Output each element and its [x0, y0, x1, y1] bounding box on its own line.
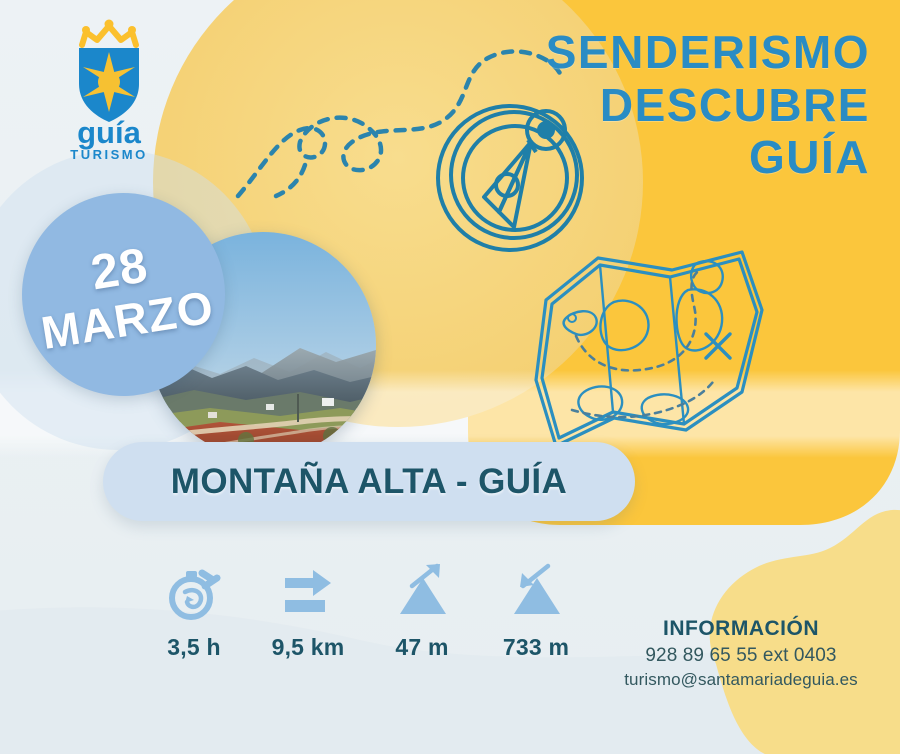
- folded-map-icon: [536, 252, 762, 446]
- info-email[interactable]: turismo@santamariadeguia.es: [596, 670, 886, 690]
- headline: SENDERISMO DESCUBRE GUÍA: [450, 30, 870, 188]
- route-title-text: MONTAÑA ALTA - GUÍA: [171, 462, 567, 502]
- stat-value: 733 m: [503, 634, 569, 661]
- stat-desnivel-negativo: 733 m: [482, 560, 590, 661]
- headline-line-3: GUÍA: [450, 135, 870, 180]
- logo-wordmark: guía: [77, 115, 141, 150]
- info-phone[interactable]: 928 89 65 55 ext 0403: [596, 645, 886, 667]
- stat-distancia: 9,5 km: [254, 560, 362, 661]
- guia-turismo-logo: guía TURISMO: [57, 12, 162, 162]
- crown-icon: [82, 26, 136, 45]
- date-badge: 28 MARZO: [22, 193, 225, 396]
- headline-line-2: DESCUBRE: [450, 83, 870, 128]
- info-block: INFORMACIÓN 928 89 65 55 ext 0403 turism…: [596, 617, 886, 690]
- headline-line-1: SENDERISMO: [450, 30, 870, 75]
- stats-row: 3,5 h 9,5 km 47 m: [140, 560, 590, 661]
- stat-desnivel-positivo: 47 m: [368, 560, 476, 661]
- stopwatch-icon: [165, 560, 223, 622]
- info-title: INFORMACIÓN: [596, 617, 886, 641]
- stat-duracion: 3,5 h: [140, 560, 248, 661]
- route-title-banner: MONTAÑA ALTA - GUÍA: [103, 442, 635, 521]
- poster-canvas: guía TURISMO SENDERISMO DESCUBRE GUÍA 28…: [0, 0, 900, 754]
- date-month: MARZO: [38, 282, 217, 357]
- descent-icon: [506, 560, 566, 622]
- stat-value: 47 m: [395, 634, 448, 661]
- stat-value: 9,5 km: [272, 634, 345, 661]
- ascent-icon: [392, 560, 452, 622]
- stat-value: 3,5 h: [167, 634, 220, 661]
- distance-arrows-icon: [279, 560, 337, 622]
- date-day: 28: [88, 241, 151, 298]
- logo-subtitle: TURISMO: [70, 147, 147, 162]
